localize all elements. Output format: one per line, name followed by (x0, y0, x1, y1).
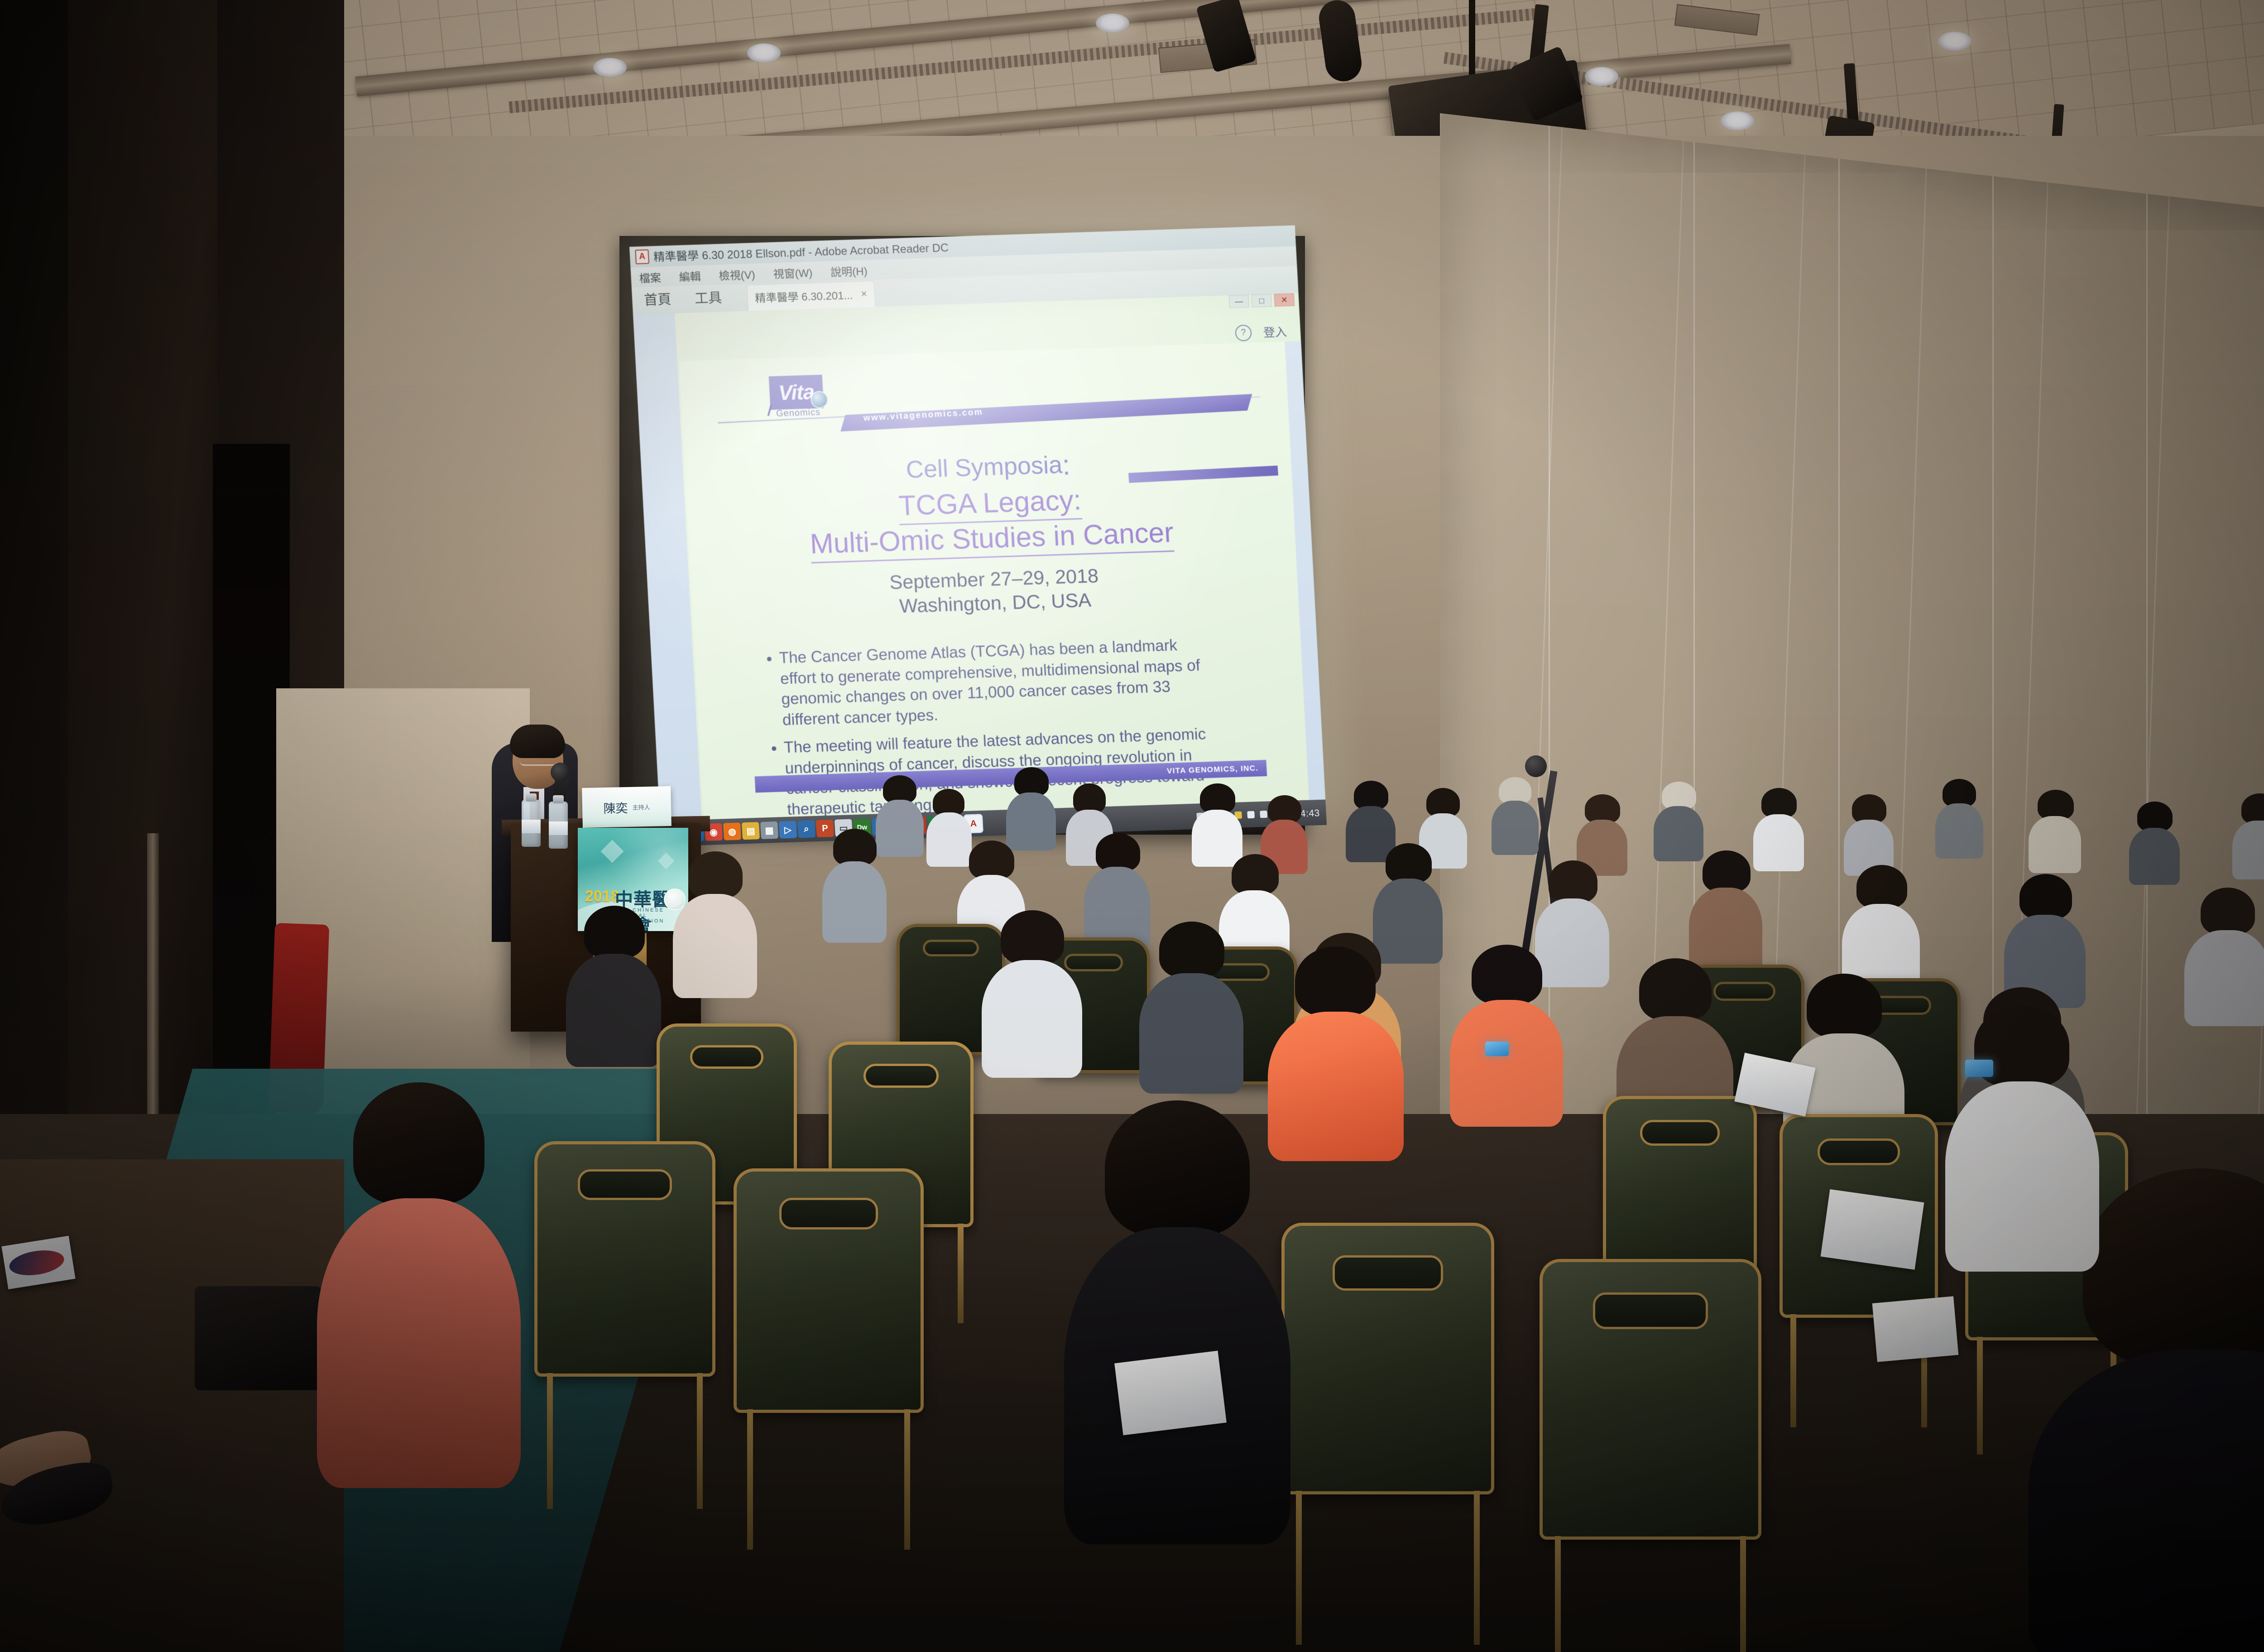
ceiling-downlight (1938, 32, 1971, 51)
handout-paper (1114, 1351, 1227, 1436)
sign-in-button[interactable]: 登入 (1263, 323, 1287, 341)
speaker-hair (510, 725, 565, 758)
banner-seal-logo (664, 888, 686, 910)
banner-year: 2018 (585, 888, 619, 905)
tray-volume-icon[interactable] (1260, 811, 1267, 818)
handout-paper (1872, 1296, 1959, 1362)
acrobat-toolbar-right[interactable]: ? 登入 (1235, 323, 1287, 341)
slide-footer-text: VITA GENOMICS, INC. (1166, 764, 1258, 776)
maximize-button[interactable]: □ (1252, 294, 1272, 307)
pdf-page: Vita Genomics www.vitagenomics.com Cell … (679, 341, 1309, 820)
minimize-button[interactable]: — (1229, 295, 1249, 308)
calculator-icon[interactable]: ▦ (760, 821, 778, 839)
tools-button[interactable]: 工具 (682, 283, 734, 313)
menu-item-view[interactable]: 檢視(V) (719, 266, 756, 283)
document-tab-label: 精準醫學 6.30.201... (754, 286, 853, 305)
chair (1540, 1259, 1761, 1540)
conference-hall-photo: A 精準醫學 6.30 2018 Ellson.pdf - Adobe Acro… (0, 0, 2264, 1652)
window-controls[interactable]: — □ ✕ (1229, 293, 1295, 308)
speaker-name-card: 陳奕 主持人 (582, 786, 672, 828)
menu-item-help[interactable]: 說明(H) (830, 262, 868, 279)
name-card-role: 主持人 (632, 802, 650, 811)
slide-bullet-list: The Cancer Genome Atlas (TCGA) has been … (759, 634, 1221, 820)
handout-paper (1821, 1189, 1924, 1270)
bag-on-floor (195, 1286, 321, 1390)
smartphone[interactable] (1485, 1042, 1509, 1056)
banner-diamond-decoration (601, 840, 624, 863)
home-button[interactable]: 首頁 (632, 284, 684, 315)
slide-bullet-1: The Cancer Genome Atlas (TCGA) has been … (779, 634, 1216, 730)
document-tab[interactable]: 精準醫學 6.30.201... × (747, 281, 876, 311)
slide-eyebrow-text: Cell Symposia (905, 451, 1063, 483)
media-player-icon[interactable]: ▷ (779, 821, 797, 839)
file-explorer-icon[interactable]: ▤ (742, 822, 760, 840)
camera-tripod-head (1525, 755, 1547, 777)
slide-title-line1-text: TCGA Legacy: (898, 485, 1082, 525)
glasses-icon (520, 757, 557, 766)
menu-item-window[interactable]: 視窗(W) (773, 264, 813, 281)
chair (534, 1141, 715, 1377)
chair (734, 1168, 924, 1413)
microphone-head (551, 763, 570, 782)
slide-date-location: September 27–29, 2018 Washington, DC, US… (691, 558, 1299, 626)
projected-image: A 精準醫學 6.30 2018 Ellson.pdf - Adobe Acro… (629, 226, 1325, 821)
firefox-icon[interactable]: ◍ (723, 822, 741, 840)
slide-title-line2-text: Multi-Omic Studies in Cancer (809, 517, 1175, 563)
close-button[interactable]: ✕ (1274, 293, 1295, 307)
projection-screen: A 精準醫學 6.30 2018 Ellson.pdf - Adobe Acro… (629, 226, 1325, 821)
banner-diamond-decoration (658, 853, 675, 869)
powerpoint-icon[interactable]: P (816, 820, 834, 837)
left-wall-column (68, 0, 217, 1250)
smartphone[interactable] (1965, 1060, 1993, 1077)
menu-item-file[interactable]: 檔案 (639, 269, 662, 285)
close-icon[interactable]: × (861, 288, 868, 300)
water-bottle (522, 800, 541, 847)
acrobat-app-icon: A (635, 250, 649, 264)
ceiling-downlight (1096, 14, 1129, 33)
ceiling-downlight (747, 43, 781, 62)
ceiling-downlight (1721, 111, 1754, 130)
carpet-dark (0, 1159, 344, 1652)
ceiling-downlight (1585, 67, 1618, 86)
water-bottle (549, 802, 568, 849)
slide-eyebrow-colon: : (1061, 450, 1071, 481)
search-icon[interactable]: ⌕ (797, 820, 815, 838)
tray-network-icon[interactable] (1247, 811, 1255, 818)
name-card-name: 陳奕 (603, 798, 628, 816)
projector-mount-rod (1469, 0, 1475, 82)
ceiling-downlight (593, 58, 627, 77)
menu-item-edit[interactable]: 編輯 (679, 267, 701, 284)
chair (1281, 1223, 1494, 1494)
help-icon[interactable]: ? (1235, 324, 1252, 341)
